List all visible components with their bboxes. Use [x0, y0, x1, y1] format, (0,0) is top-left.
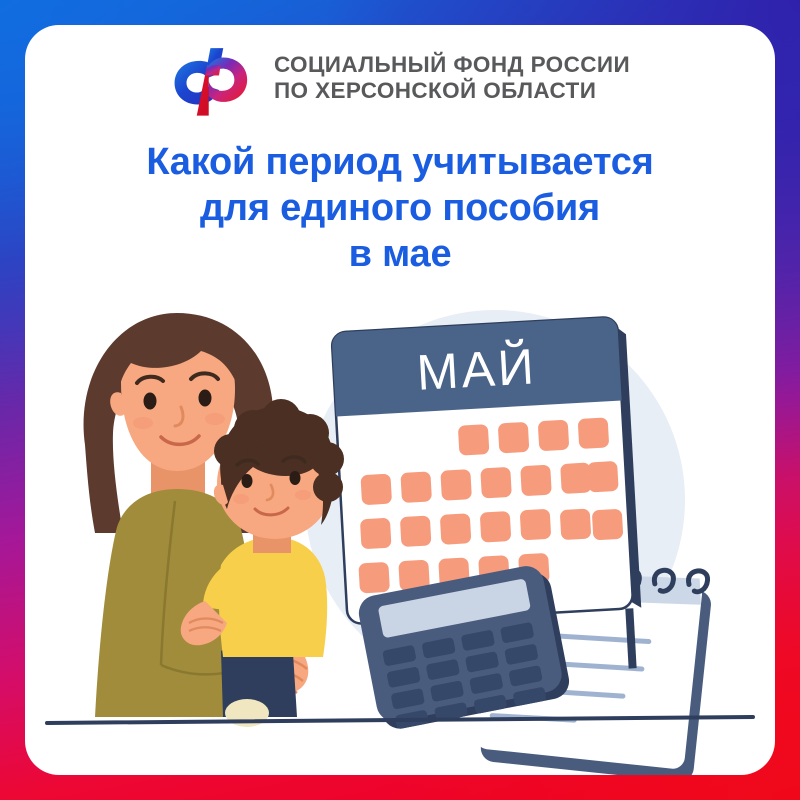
child-shirt: [219, 537, 327, 657]
calendar-month-label: МАЙ: [415, 337, 538, 401]
sfr-logo-icon: [170, 37, 256, 119]
illustration: МАЙ: [25, 265, 775, 775]
page-title: Какой период учитывается для единого пос…: [25, 140, 775, 278]
woman-holding-child: [84, 313, 344, 727]
org-name-line1: СОЦИАЛЬНЫЙ ФОНД РОССИИ: [274, 52, 630, 78]
page-title-line1: Какой период учитывается: [25, 140, 775, 186]
child-eye-right: [290, 471, 301, 485]
org-name-line2: ПО ХЕРСОНСКОЙ ОБЛАСТИ: [274, 78, 630, 104]
woman-eye-left: [144, 393, 157, 410]
woman-eye-right: [199, 390, 212, 407]
child-eye-left: [242, 474, 253, 488]
content-card: СОЦИАЛЬНЫЙ ФОНД РОССИИ ПО ХЕРСОНСКОЙ ОБЛ…: [25, 25, 775, 775]
org-name: СОЦИАЛЬНЫЙ ФОНД РОССИИ ПО ХЕРСОНСКОЙ ОБЛ…: [274, 52, 630, 103]
page-title-line2: для единого пособия: [25, 186, 775, 232]
poster: СОЦИАЛЬНЫЙ ФОНД РОССИИ ПО ХЕРСОНСКОЙ ОБЛ…: [0, 0, 800, 800]
header: СОЦИАЛЬНЫЙ ФОНД РОССИИ ПО ХЕРСОНСКОЙ ОБЛ…: [25, 37, 775, 119]
page-title-line3: в мае: [25, 232, 775, 278]
